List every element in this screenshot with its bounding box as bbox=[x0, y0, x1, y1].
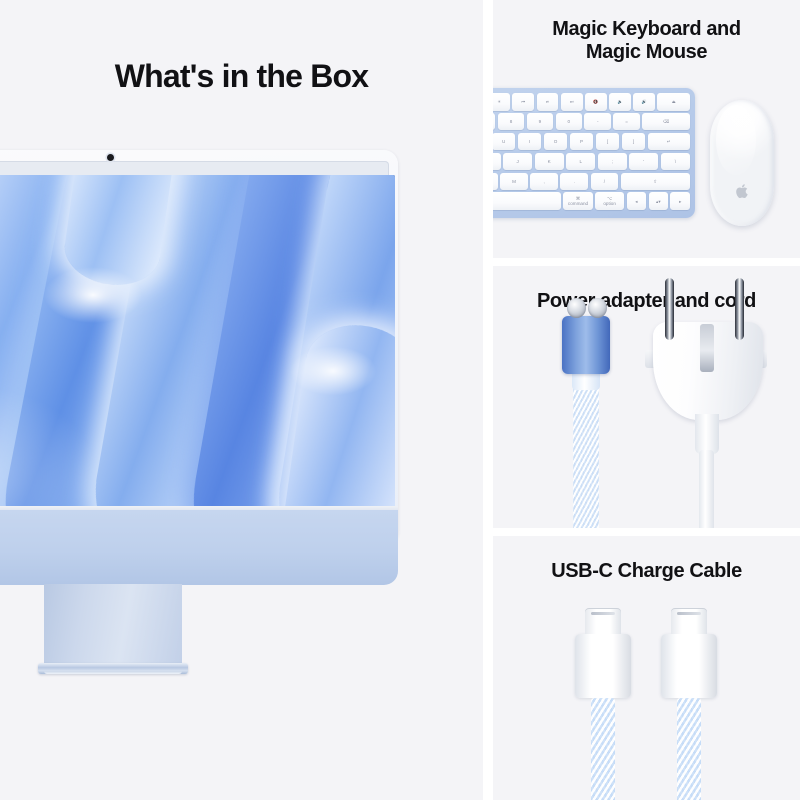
key-K[interactable]: K bbox=[535, 153, 564, 171]
panel-heading-keyboard-mouse: Magic Keyboard and Magic Mouse bbox=[493, 18, 800, 65]
key-7[interactable]: 7 bbox=[493, 113, 495, 131]
key-option[interactable]: ⌥ option bbox=[595, 192, 624, 210]
key-[interactable]: [ bbox=[596, 133, 620, 151]
usbc-braid-left bbox=[591, 698, 615, 800]
usbc-shell-left bbox=[575, 634, 631, 698]
key-[interactable]: , bbox=[530, 173, 558, 191]
key-F7[interactable]: ⏮ bbox=[512, 93, 534, 111]
key-[interactable]: . bbox=[560, 173, 588, 191]
imac-stand-base bbox=[38, 663, 188, 674]
key-H[interactable]: H bbox=[493, 153, 501, 171]
panel-power-adapter: Power adapter and cord bbox=[493, 266, 800, 528]
power-cord-braid bbox=[573, 376, 599, 528]
key-[interactable]: ' bbox=[629, 153, 658, 171]
panel-imac: What's in the Box bbox=[0, 0, 483, 800]
power-connector-pin-2 bbox=[588, 298, 607, 318]
usbc-tip-left bbox=[585, 608, 621, 634]
key-J[interactable]: J bbox=[503, 153, 532, 171]
keyboard-row-bottom-letter-row: BNM,./⇧ bbox=[493, 173, 690, 191]
key-right[interactable]: ▸ bbox=[670, 192, 690, 210]
apple-logo-icon bbox=[736, 183, 749, 198]
key-F10[interactable]: 🔇 bbox=[585, 93, 607, 111]
ac-plug-cord bbox=[699, 450, 714, 528]
key-I[interactable]: I bbox=[518, 133, 542, 151]
panel-keyboard-mouse: Magic Keyboard and Magic Mouse ▦☼☀⏮⏯⏭🔇🔉🔊… bbox=[493, 0, 800, 258]
key-U[interactable]: U bbox=[493, 133, 515, 151]
key-N[interactable]: N bbox=[493, 173, 498, 191]
key-space[interactable] bbox=[493, 192, 561, 210]
key-P[interactable]: P bbox=[570, 133, 594, 151]
imac-screen bbox=[0, 175, 395, 509]
power-adapter-illustration bbox=[493, 266, 800, 528]
key-return[interactable]: ↵ bbox=[648, 133, 690, 151]
usbc-connector-right bbox=[661, 608, 717, 800]
keyboard-row-modifier-row: ⌘ command⌥ option◂▴▾▸ bbox=[493, 192, 690, 210]
key-[interactable]: ; bbox=[598, 153, 627, 171]
panel-usbc-cable: USB-C Charge Cable bbox=[493, 536, 800, 800]
key-F11[interactable]: 🔉 bbox=[609, 93, 631, 111]
imac-wallpaper bbox=[0, 175, 395, 509]
ac-plug-pin-1 bbox=[665, 278, 674, 340]
key-9[interactable]: 9 bbox=[527, 113, 554, 131]
key-8[interactable]: 8 bbox=[498, 113, 525, 131]
key-F8[interactable]: ⏯ bbox=[537, 93, 559, 111]
magnetic-power-connector bbox=[562, 316, 610, 374]
key-command[interactable]: ⌘ command bbox=[563, 192, 592, 210]
imac-bezel bbox=[0, 161, 389, 501]
key-[interactable]: \ bbox=[661, 153, 690, 171]
magic-keyboard: ▦☼☀⏮⏯⏭🔇🔉🔊⏏67890-=⌫TYUIOP[]↵GHJKL;'\BNM,.… bbox=[493, 88, 695, 218]
keyboard-row-number-row: 67890-=⌫ bbox=[493, 113, 690, 131]
ac-plug-notch bbox=[700, 324, 714, 372]
heading-line-2: Magic Mouse bbox=[493, 41, 800, 64]
camera-dot-icon bbox=[107, 154, 114, 161]
key-F12[interactable]: 🔊 bbox=[633, 93, 655, 111]
key-0[interactable]: 0 bbox=[556, 113, 583, 131]
wallpaper-glow bbox=[0, 175, 395, 509]
imac-stand-neck bbox=[44, 584, 182, 665]
imac-device bbox=[0, 150, 398, 650]
usbc-shell-right bbox=[661, 634, 717, 698]
keyboard-row-home-row: GHJKL;'\ bbox=[493, 153, 690, 171]
key-M[interactable]: M bbox=[500, 173, 528, 191]
key-L[interactable]: L bbox=[566, 153, 595, 171]
ac-plug-pin-2 bbox=[735, 278, 744, 340]
magic-mouse bbox=[710, 100, 774, 226]
usbc-connector-left bbox=[575, 608, 631, 800]
keyboard-row-function-row: ▦☼☀⏮⏯⏭🔇🔉🔊⏏ bbox=[493, 93, 690, 111]
imac-body bbox=[0, 150, 398, 545]
key-shift[interactable]: ⇧ bbox=[621, 173, 690, 191]
whats-in-the-box-figure: What's in the Box Magic Keyboard and Mag… bbox=[0, 0, 800, 800]
key-[interactable]: = bbox=[613, 113, 640, 131]
key-[interactable]: - bbox=[584, 113, 611, 131]
ac-plug-stem bbox=[695, 414, 719, 454]
key-eject[interactable]: ⏏ bbox=[657, 93, 690, 111]
key-[interactable]: / bbox=[591, 173, 619, 191]
keyboard-row-top-letter-row: TYUIOP[]↵ bbox=[493, 133, 690, 151]
power-connector-pin-1 bbox=[567, 298, 586, 318]
key-updown[interactable]: ▴▾ bbox=[649, 192, 669, 210]
usbc-cable-illustration bbox=[493, 536, 800, 800]
key-[interactable]: ] bbox=[622, 133, 646, 151]
imac-chin bbox=[0, 510, 398, 585]
key-F6[interactable]: ☀ bbox=[493, 93, 510, 111]
key-delete[interactable]: ⌫ bbox=[642, 113, 690, 131]
usbc-tip-right bbox=[671, 608, 707, 634]
usbc-braid-right bbox=[677, 698, 701, 800]
key-F9[interactable]: ⏭ bbox=[561, 93, 583, 111]
key-left[interactable]: ◂ bbox=[627, 192, 647, 210]
page-title: What's in the Box bbox=[0, 58, 483, 95]
key-O[interactable]: O bbox=[544, 133, 568, 151]
heading-line-1: Magic Keyboard and bbox=[493, 18, 800, 41]
